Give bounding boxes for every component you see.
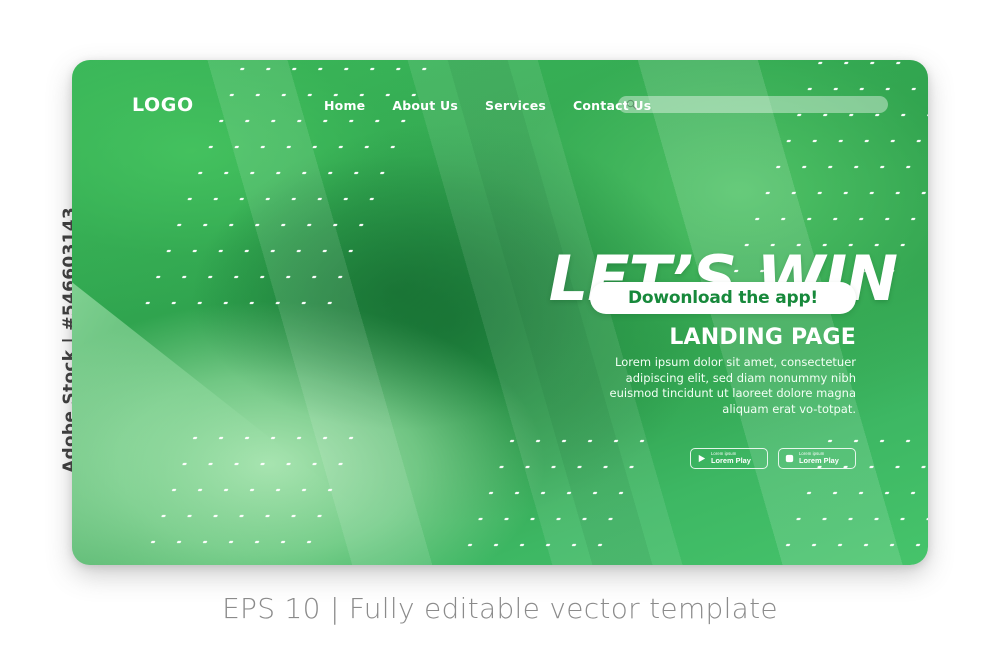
nav-link-about-us[interactable]: About Us [392, 98, 458, 113]
google-play-main-label: Lorem Play [711, 457, 751, 464]
search-bar[interactable] [618, 96, 888, 113]
search-icon [626, 99, 637, 110]
app-store-main-label: Lorem Play [799, 457, 839, 464]
hero-card: LOGO Home About Us Services Contact Us L… [72, 60, 928, 565]
hero-body-text: Lorem ipsum dolor sit amet, consectetuer… [584, 355, 856, 417]
rounded-square-icon [784, 453, 795, 464]
download-app-button[interactable]: Dowonload the app! [590, 282, 856, 314]
app-store-labels: Lorem ipsum Lorem Play [799, 452, 839, 465]
hero-subheading: LANDING PAGE [584, 325, 856, 350]
google-play-button[interactable]: Lorem ipsum Lorem Play [690, 448, 768, 469]
nav-link-services[interactable]: Services [485, 98, 546, 113]
download-app-label: Dowonload the app! [628, 288, 818, 308]
store-buttons: Lorem ipsum Lorem Play Lorem ipsum Lorem… [690, 448, 856, 469]
logo[interactable]: LOGO [132, 94, 194, 116]
caption: EPS 10 | Fully editable vector template [0, 592, 1000, 625]
google-play-labels: Lorem ipsum Lorem Play [711, 452, 751, 465]
nav-link-home[interactable]: Home [324, 98, 365, 113]
nav-links: Home About Us Services Contact Us [324, 98, 651, 113]
copy-block: LANDING PAGE Lorem ipsum dolor sit amet,… [584, 325, 856, 417]
play-triangle-icon [696, 453, 707, 464]
app-store-button[interactable]: Lorem ipsum Lorem Play [778, 448, 856, 469]
navbar: LOGO Home About Us Services Contact Us [72, 60, 928, 156]
